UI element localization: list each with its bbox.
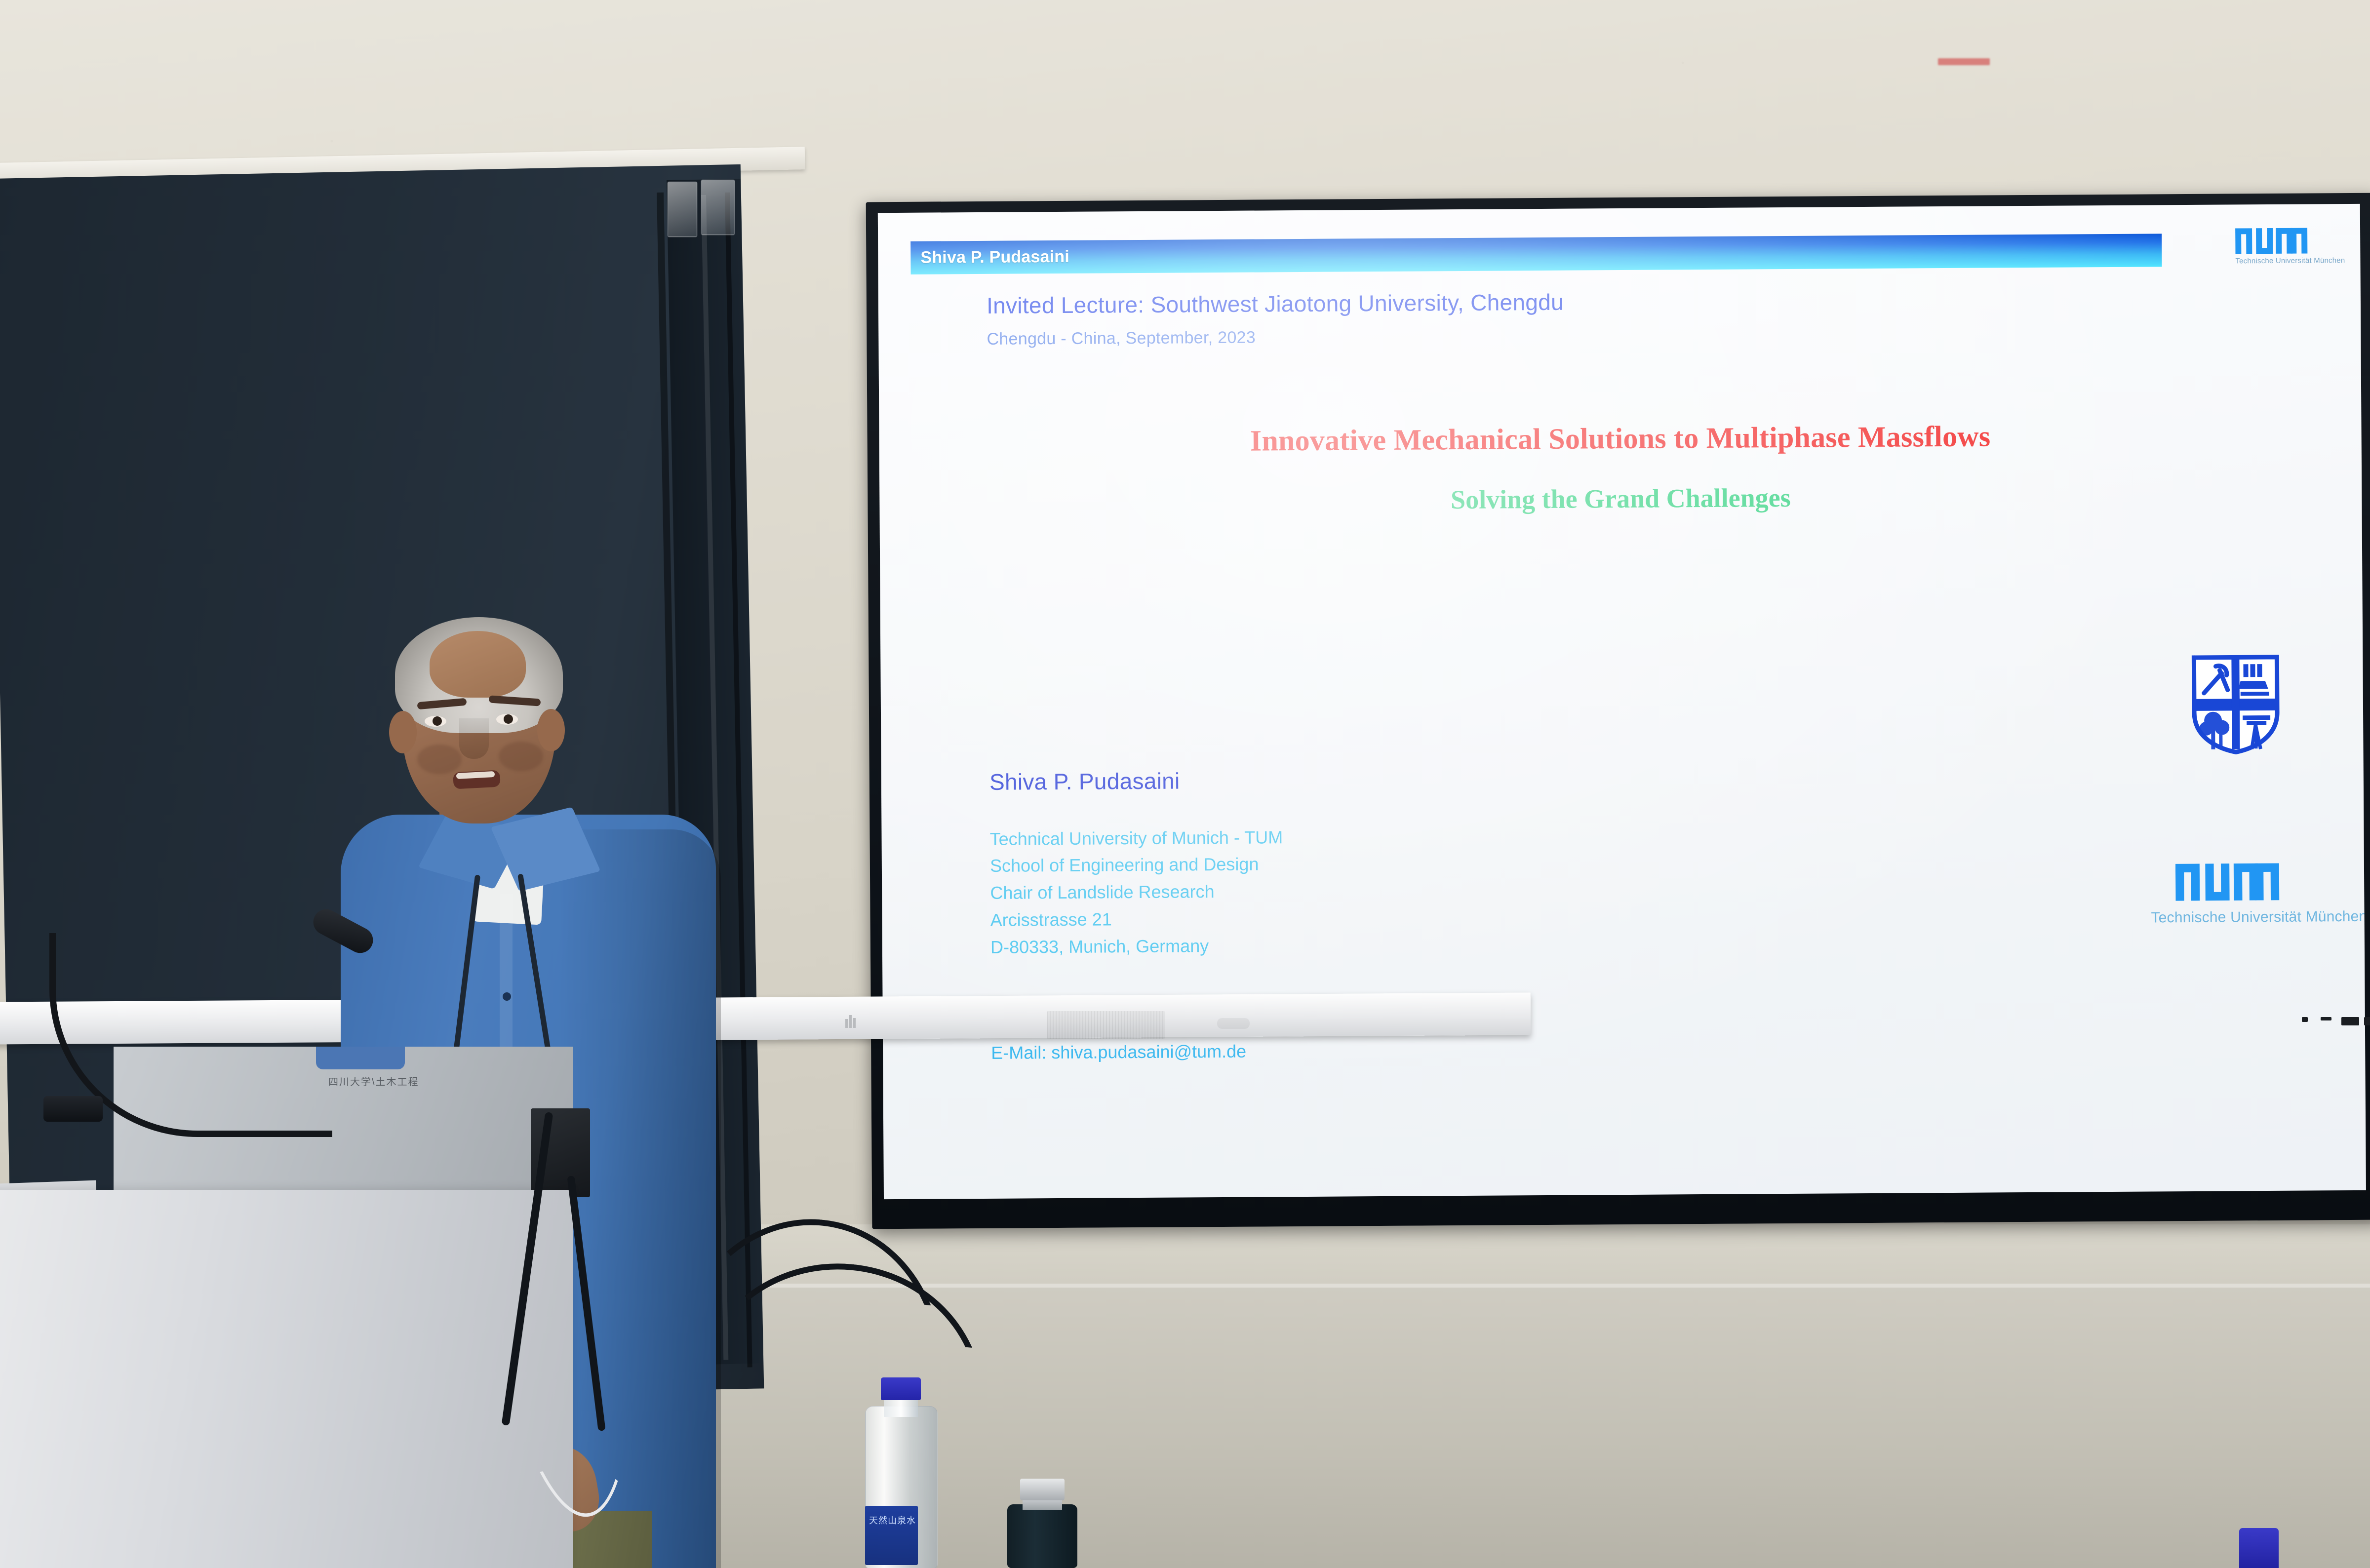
affiliation-line: Chair of Landslide Research bbox=[990, 878, 1283, 906]
affiliation-line: School of Engineering and Design bbox=[990, 851, 1283, 880]
plastic-clip bbox=[668, 182, 697, 237]
slide-title-sub: Solving the Grand Challenges bbox=[879, 479, 2362, 518]
tum-logo-mark bbox=[2235, 228, 2314, 254]
presenter-pupil-right bbox=[504, 714, 513, 724]
bottle-cap-far-right[interactable] bbox=[2239, 1528, 2279, 1568]
slide-lecture-line: Invited Lecture: Southwest Jiaotong Univ… bbox=[987, 289, 1564, 319]
display-speaker-grille bbox=[1047, 1011, 1165, 1039]
tum-logo-mark bbox=[2151, 860, 2314, 903]
wall-red-sticker bbox=[1938, 58, 1990, 65]
slide-title-main: Innovative Mechanical Solutions to Multi… bbox=[879, 417, 2361, 460]
affiliation-line: Arcisstrasse 21 bbox=[990, 905, 1284, 934]
presenter-ear-left bbox=[389, 711, 417, 753]
display-brand-logo-icon bbox=[845, 1015, 857, 1028]
bottle-label-text: 天然山泉水 bbox=[869, 1514, 916, 1527]
dark-bottle[interactable] bbox=[1007, 1479, 1077, 1568]
desk-edge bbox=[706, 1284, 2370, 1288]
presenter-forehead bbox=[430, 631, 526, 698]
bottle-label: 天然山泉水 bbox=[865, 1506, 918, 1565]
plastic-clip bbox=[701, 180, 735, 235]
lecture-hall-scene: Shiva P. Pudasaini Technische Universitä… bbox=[0, 0, 2370, 1568]
slide-affiliation-block: Technical University of Munich - TUM Sch… bbox=[990, 824, 1284, 961]
slide-header-name: Shiva P. Pudasaini bbox=[910, 247, 1069, 268]
tum-logo-svg bbox=[2175, 860, 2290, 903]
tum-logo-footer-caption: Technische Universität München bbox=[2151, 908, 2314, 926]
display-port-usb[interactable] bbox=[2364, 1017, 2370, 1025]
tum-logo-footer: Technische Universität München bbox=[2151, 860, 2314, 926]
shirt-button bbox=[503, 992, 511, 1001]
tum-logo-header: Technische Universität München bbox=[2235, 228, 2314, 265]
presentation-slide: Shiva P. Pudasaini Technische Universitä… bbox=[878, 204, 2366, 1199]
affiliation-line: D-80333, Munich, Germany bbox=[990, 932, 1284, 961]
presenter-cheek-shadow bbox=[499, 742, 543, 771]
dark-bottle-cap[interactable] bbox=[1020, 1479, 1065, 1500]
podium-panel-text: 四川大学\土木工程 bbox=[328, 1074, 419, 1088]
lower-wall bbox=[706, 1224, 2370, 1289]
display-power-button[interactable] bbox=[1217, 1018, 1250, 1029]
slide-email: E-Mail: shiva.pudasaini@tum.de bbox=[991, 1041, 1246, 1063]
presenter-pupil-left bbox=[433, 716, 442, 726]
presenter-nose bbox=[459, 718, 489, 759]
slide-author: Shiva P. Pudasaini bbox=[989, 767, 1180, 795]
slide-header-bar: Shiva P. Pudasaini bbox=[910, 234, 2162, 274]
southwest-jiaotong-university-crest-icon bbox=[2191, 653, 2280, 755]
presenter-ear-right bbox=[537, 709, 565, 751]
microphone-base bbox=[43, 1096, 103, 1122]
display-port-small[interactable] bbox=[2302, 1017, 2308, 1022]
water-bottle[interactable]: 天然山泉水 bbox=[865, 1377, 937, 1568]
presenter-cheek-shadow bbox=[417, 745, 462, 774]
tum-logo-svg bbox=[2235, 228, 2314, 254]
bottle-cap[interactable] bbox=[881, 1377, 921, 1400]
display-port-usb[interactable] bbox=[2341, 1017, 2359, 1025]
affiliation-line: Technical University of Munich - TUM bbox=[990, 824, 1283, 853]
tum-logo-header-caption: Technische Universität München bbox=[2235, 256, 2314, 265]
podium-front-panel bbox=[0, 1190, 573, 1568]
display-screen[interactable]: Shiva P. Pudasaini Technische Universitä… bbox=[878, 204, 2366, 1199]
slide-lecture-sub: Chengdu - China, September, 2023 bbox=[987, 328, 1256, 349]
display-port-small[interactable] bbox=[2321, 1017, 2331, 1020]
wall-display[interactable]: Shiva P. Pudasaini Technische Universitä… bbox=[866, 193, 2370, 1229]
dark-bottle-body bbox=[1007, 1504, 1077, 1568]
crest-svg bbox=[2191, 653, 2280, 755]
